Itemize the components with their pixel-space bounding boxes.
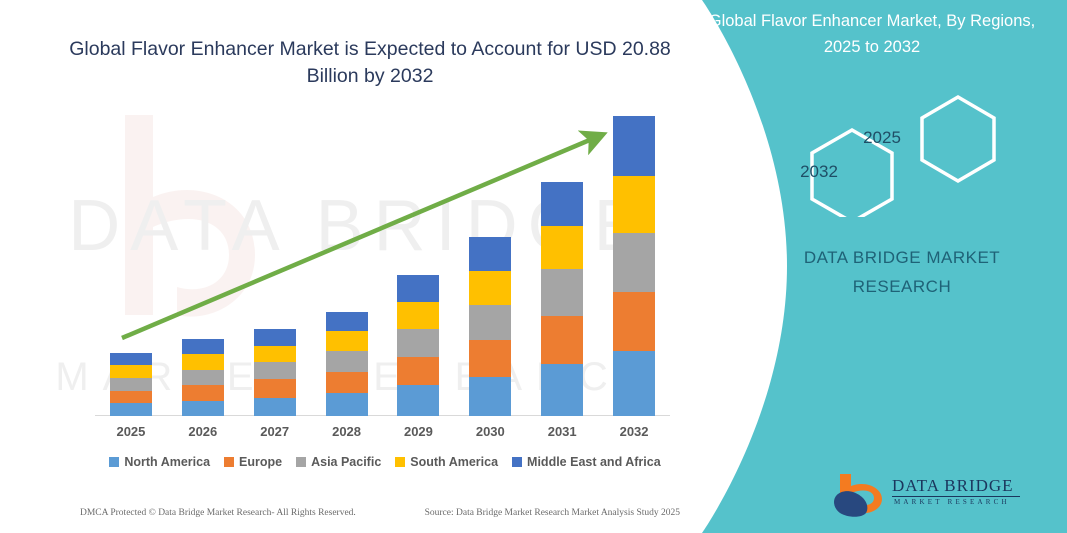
bar-2031 xyxy=(541,182,583,416)
bar-segment-europe xyxy=(613,292,655,351)
x-axis-label-2025: 2025 xyxy=(95,424,167,439)
bar-segment-europe xyxy=(110,391,152,404)
bar-segment-asia-pacific xyxy=(613,233,655,292)
bar-segment-north-america xyxy=(613,351,655,416)
hexagon-pair-icon xyxy=(762,92,1042,217)
bar-segment-asia-pacific xyxy=(541,269,583,316)
legend-label: Asia Pacific xyxy=(311,455,381,469)
legend-label: North America xyxy=(124,455,210,469)
bar-segment-south-america xyxy=(326,331,368,351)
legend-swatch-icon xyxy=(109,457,119,467)
bar-segment-south-america xyxy=(541,226,583,270)
legend-item-south-america[interactable]: South America xyxy=(395,455,498,469)
bar-segment-asia-pacific xyxy=(182,370,224,386)
infographic-root: DATA BRIDGE MARKET RESEARCH Global Flavo… xyxy=(0,0,1067,533)
bar-segment-south-america xyxy=(613,176,655,232)
bar-segment-south-america xyxy=(397,302,439,329)
x-axis-labels: 20252026202720282029203020312032 xyxy=(95,424,670,444)
bar-segment-north-america xyxy=(254,398,296,416)
bar-2028 xyxy=(326,312,368,416)
bar-segment-europe xyxy=(397,357,439,385)
stacked-bar-chart xyxy=(95,120,670,416)
legend-item-europe[interactable]: Europe xyxy=(224,455,282,469)
bar-2026 xyxy=(182,339,224,417)
legend-item-middle-east-and-africa[interactable]: Middle East and Africa xyxy=(512,455,661,469)
hexagon-label-start: 2025 xyxy=(852,128,912,148)
bar-segment-south-america xyxy=(254,346,296,363)
footer-copyright: DMCA Protected © Data Bridge Market Rese… xyxy=(80,508,356,518)
bar-2027 xyxy=(254,329,296,416)
legend-swatch-icon xyxy=(395,457,405,467)
bar-segment-middle-east-and-africa xyxy=(397,275,439,302)
bar-segment-north-america xyxy=(110,403,152,416)
legend-label: Middle East and Africa xyxy=(527,455,661,469)
x-axis-label-2026: 2026 xyxy=(167,424,239,439)
x-axis-label-2031: 2031 xyxy=(526,424,598,439)
bar-segment-middle-east-and-africa xyxy=(469,237,511,271)
right-panel-content: Global Flavor Enhancer Market, By Region… xyxy=(667,0,1067,533)
bar-segment-south-america xyxy=(182,354,224,370)
x-axis-label-2029: 2029 xyxy=(382,424,454,439)
x-axis-label-2032: 2032 xyxy=(598,424,670,439)
bar-segment-middle-east-and-africa xyxy=(254,329,296,346)
bar-2029 xyxy=(397,275,439,416)
dbmr-logo-divider xyxy=(892,496,1020,497)
legend-item-north-america[interactable]: North America xyxy=(109,455,210,469)
bar-segment-north-america xyxy=(541,364,583,416)
bar-segment-middle-east-and-africa xyxy=(326,312,368,332)
x-axis-label-2028: 2028 xyxy=(311,424,383,439)
legend-label: South America xyxy=(410,455,498,469)
bar-2032 xyxy=(613,116,655,416)
bar-segment-south-america xyxy=(110,365,152,378)
bar-segment-asia-pacific xyxy=(469,305,511,340)
bar-segment-north-america xyxy=(182,401,224,417)
chart-pane: Global Flavor Enhancer Market is Expecte… xyxy=(0,0,720,533)
right-panel-title: Global Flavor Enhancer Market, By Region… xyxy=(697,8,1047,60)
legend-swatch-icon xyxy=(512,457,522,467)
bar-2025 xyxy=(110,353,152,416)
footer-source: Source: Data Bridge Market Research Mark… xyxy=(425,508,680,518)
bar-segment-europe xyxy=(182,385,224,401)
bar-segment-middle-east-and-africa xyxy=(541,182,583,226)
bar-segment-asia-pacific xyxy=(110,378,152,391)
legend-swatch-icon xyxy=(296,457,306,467)
hexagon-label-end: 2032 xyxy=(789,162,849,182)
legend-swatch-icon xyxy=(224,457,234,467)
bar-segment-asia-pacific xyxy=(326,351,368,372)
bar-segment-europe xyxy=(469,340,511,377)
bar-segment-middle-east-and-africa xyxy=(110,353,152,366)
x-axis-label-2027: 2027 xyxy=(239,424,311,439)
chart-legend: North AmericaEuropeAsia PacificSouth Ame… xyxy=(95,455,675,469)
dbmr-logo-mark-icon xyxy=(832,472,888,518)
bar-segment-north-america xyxy=(469,377,511,416)
dbmr-logo: DATA BRIDGE MARKET RESEARCH xyxy=(832,472,1032,520)
footer: DMCA Protected © Data Bridge Market Rese… xyxy=(80,508,680,518)
bar-segment-europe xyxy=(541,316,583,364)
chart-title: Global Flavor Enhancer Market is Expecte… xyxy=(60,36,680,90)
brand-text: DATA BRIDGE MARKET RESEARCH xyxy=(762,243,1042,301)
bar-segment-middle-east-and-africa xyxy=(613,116,655,177)
dbmr-logo-subtitle: MARKET RESEARCH xyxy=(894,498,1010,506)
legend-item-asia-pacific[interactable]: Asia Pacific xyxy=(296,455,381,469)
right-panel: Global Flavor Enhancer Market, By Region… xyxy=(667,0,1067,533)
bar-segment-asia-pacific xyxy=(397,329,439,357)
bar-2030 xyxy=(469,237,511,416)
bar-segment-europe xyxy=(326,372,368,393)
bar-segment-middle-east-and-africa xyxy=(182,339,224,355)
x-axis-label-2030: 2030 xyxy=(454,424,526,439)
dbmr-logo-name: DATA BRIDGE xyxy=(892,476,1014,496)
bar-segment-europe xyxy=(254,379,296,397)
bar-segment-north-america xyxy=(397,385,439,416)
bar-segment-south-america xyxy=(469,271,511,305)
bar-segment-asia-pacific xyxy=(254,362,296,379)
bar-segment-north-america xyxy=(326,393,368,416)
legend-label: Europe xyxy=(239,455,282,469)
